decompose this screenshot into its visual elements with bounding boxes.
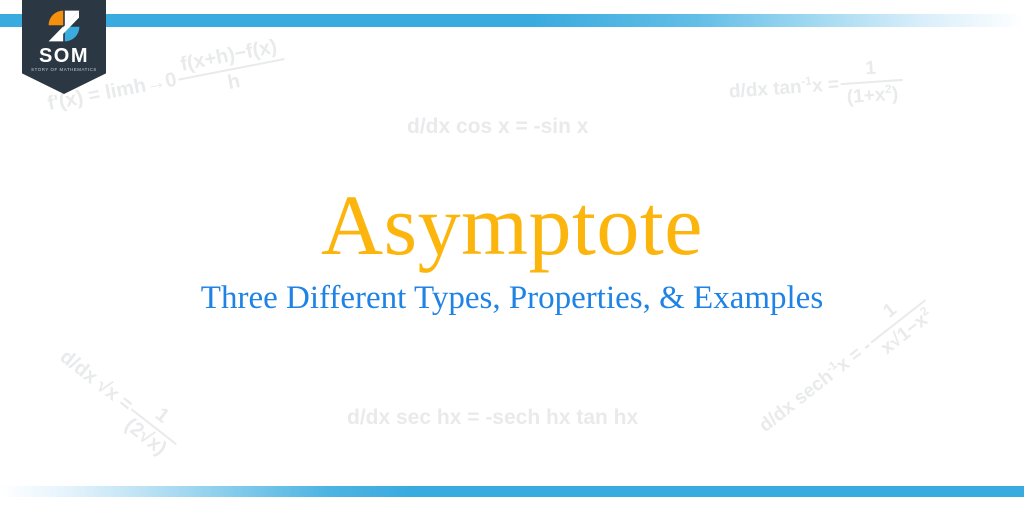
formula-derivative-cosine: d/dx cos x = -sin x	[407, 115, 588, 139]
formula-arctan-exponent: -1	[801, 75, 812, 89]
formula-arctan-denominator-suffix: )	[891, 84, 899, 105]
formula-derivative-arctangent: d/dx tan-1x =1(1+x2)	[727, 56, 906, 117]
top-accent-band	[0, 14, 1024, 27]
formula-sqrt-denominator: (2√x)	[116, 410, 175, 464]
som-logo-banner[interactable]: SOM STORY OF MATHEMATICS	[22, 0, 106, 94]
page-subtitle: Three Different Types, Properties, & Exa…	[0, 278, 1024, 318]
formula-arctan-fraction: 1(1+x2)	[839, 56, 904, 109]
som-logo-mark-icon	[46, 8, 82, 44]
formula-sqrt-fraction: 1(2√x)	[116, 389, 191, 463]
formula-arctan-lhs-prefix: d/dx tan	[728, 77, 802, 103]
som-logo-wordmark: SOM	[22, 46, 106, 66]
formula-derivative-square-root: d/dx √x =1(2√x)	[47, 335, 193, 465]
formula-derivative-hyperbolic-secant: d/dx sec hx = -sech hx tan hx	[347, 406, 638, 430]
formula-derivative-fraction: f(x+h)−f(x)h	[174, 35, 289, 105]
formula-sqrt-numerator: 1	[131, 389, 192, 444]
formula-arcsech-lhs-suffix: x = -	[833, 336, 876, 376]
page-title: Asymptote	[0, 178, 1024, 272]
formula-arcsech-exponent: -1	[823, 359, 839, 376]
som-logo-tagline: STORY OF MATHEMATICS	[22, 67, 106, 73]
formula-sqrt-lhs: d/dx √x =	[56, 346, 137, 416]
formula-arctan-lhs-suffix: x =	[811, 74, 839, 97]
featured-image-canvas: f'(x) = limh→0f(x+h)−f(x)h d/dx cos x = …	[0, 0, 1024, 512]
formula-derivative-numerator: f(x+h)−f(x)	[174, 35, 285, 81]
formula-arctan-denominator-prefix: (1+x	[846, 84, 886, 108]
formula-arctan-denominator-exponent: 2	[885, 83, 892, 96]
formula-arctan-numerator: 1	[839, 56, 902, 85]
formula-derivative-denominator: h	[179, 60, 289, 104]
headline-block: Asymptote Three Different Types, Propert…	[0, 178, 1024, 318]
formula-arcsech-lhs-prefix: d/dx sech	[755, 366, 837, 437]
bottom-accent-band	[0, 486, 1024, 497]
formula-arctan-denominator: (1+x2)	[841, 81, 904, 110]
